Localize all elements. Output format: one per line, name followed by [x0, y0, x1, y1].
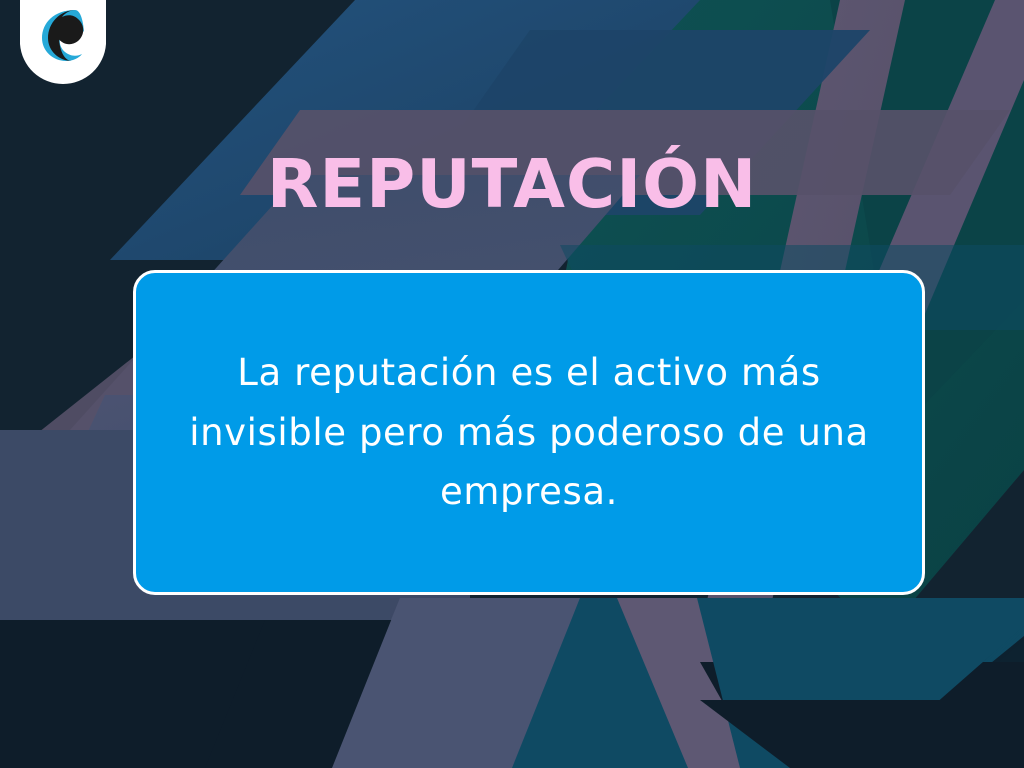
brand-logo-icon[interactable]: [20, 0, 106, 84]
page-title: REPUTACIÓN: [0, 149, 1024, 219]
slide-canvas: REPUTACIÓN La reputación es el activo má…: [0, 0, 1024, 768]
logo-swirl-dot: [56, 24, 74, 42]
quote-text: La reputación es el activo más invisible…: [179, 343, 879, 523]
quote-card: La reputación es el activo más invisible…: [133, 270, 925, 595]
